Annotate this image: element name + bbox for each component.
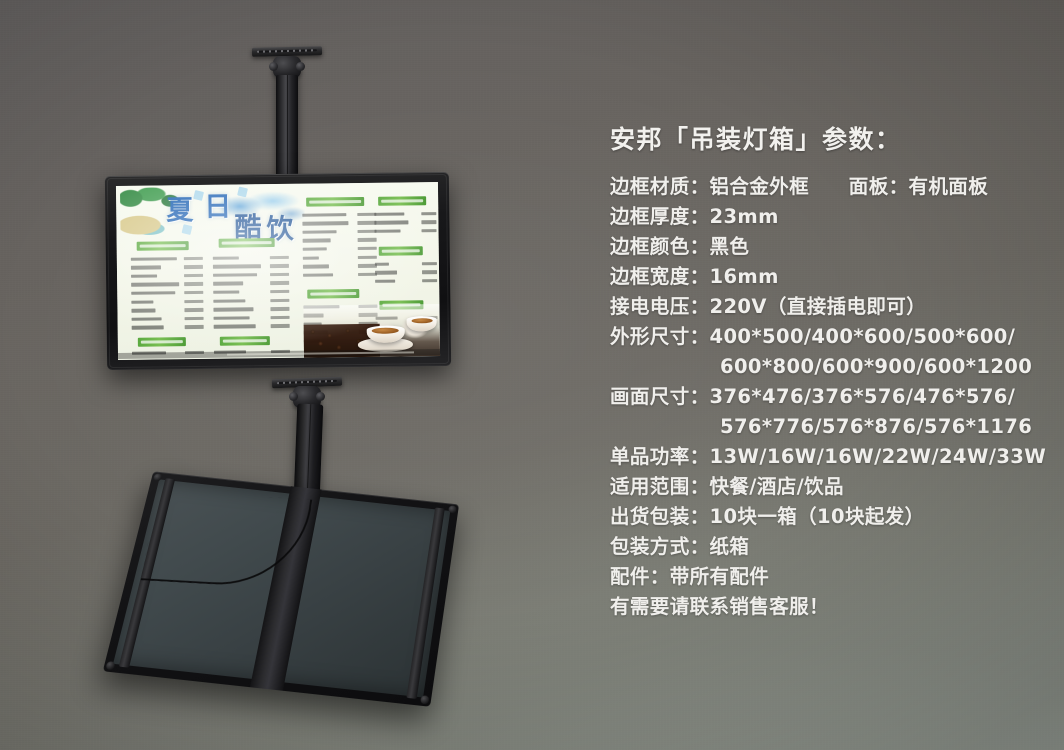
spec-line-outer-size: 外形尺寸：400*500/400*600/500*600/ (610, 322, 1040, 352)
spec-line-shipping-package: 出货包装：10块一箱（10块起发） (610, 502, 1040, 532)
coffee-cup-secondary-icon (407, 317, 437, 332)
coffee-liquid (411, 318, 433, 323)
menu-section-rows (302, 211, 377, 281)
swivel-knob-right-icon (296, 62, 305, 71)
coffee-liquid (372, 327, 399, 333)
page-title: 安邦「吊装灯箱」参数： (610, 120, 1040, 160)
spec-line-picture-size: 画面尺寸：376*476/376*576/476*576/ (610, 382, 1040, 412)
menu-section-rows (131, 255, 204, 333)
spec-line-frame-width: 边框宽度：16mm (610, 262, 1040, 292)
menu-poster: 夏 日 酷 饮 (116, 182, 440, 360)
spec-line-picture-size-cont: 576*776/576*876/576*1176 (610, 412, 1040, 442)
spec-line-accessories: 配件：带所有配件 (610, 562, 1040, 592)
extension-pole-top (276, 75, 298, 179)
spec-line-frame-material: 边框材质：铝合金外框 面板：有机面板 (610, 172, 1040, 202)
lightbox-back-unit (103, 471, 459, 706)
menu-section-header (137, 241, 189, 251)
swivel-knob-left-icon (269, 62, 278, 71)
spec-line-outer-size-cont: 600*800/600*900/600*1200 (610, 352, 1040, 382)
menu-section-header (138, 337, 186, 347)
menu-section-header (307, 289, 359, 299)
swivel-knob-left-icon (289, 392, 298, 401)
menu-section-header (219, 238, 275, 248)
spec-line-power: 单品功率：13W/16W/16W/22W/24W/33W (610, 442, 1040, 472)
product-spec-image: 夏 日 酷 饮 (0, 0, 1064, 750)
spec-line-contact: 有需要请联系销售客服！ (610, 592, 1040, 622)
poster-title: 夏 日 酷 饮 (162, 190, 313, 246)
menu-section-rows (374, 210, 436, 237)
lightbox-front-unit: 夏 日 酷 饮 (105, 172, 451, 370)
specification-list: 边框材质：铝合金外框 面板：有机面板边框厚度：23mm边框颜色：黑色边框宽度：1… (610, 172, 1040, 622)
menu-section-header (378, 196, 426, 206)
lightbox-acrylic-panel: 夏 日 酷 饮 (116, 182, 440, 360)
swivel-knob-right-icon (316, 392, 325, 401)
spec-line-application: 适用范围：快餐/酒店/饮品 (610, 472, 1040, 502)
menu-section-rows (213, 254, 290, 332)
pole-seam (287, 75, 288, 179)
poster-title-char-2: 日 (204, 194, 231, 222)
menu-section-header (379, 246, 423, 256)
poster-title-char-1: 夏 (166, 197, 193, 225)
spec-line-frame-thickness: 边框厚度：23mm (610, 202, 1040, 232)
menu-section-header (306, 197, 364, 207)
spec-line-frame-color: 边框颜色：黑色 (610, 232, 1040, 262)
spec-line-voltage: 接电电压：220V（直接插电即可） (610, 292, 1040, 322)
specification-panel: 安邦「吊装灯箱」参数： 边框材质：铝合金外框 面板：有机面板边框厚度：23mm边… (610, 120, 1040, 622)
menu-section-rows (375, 260, 437, 287)
menu-section-header (220, 336, 270, 346)
ceiling-mount-bracket-top (252, 47, 322, 179)
spec-line-package-method: 包装方式：纸箱 (610, 532, 1040, 562)
